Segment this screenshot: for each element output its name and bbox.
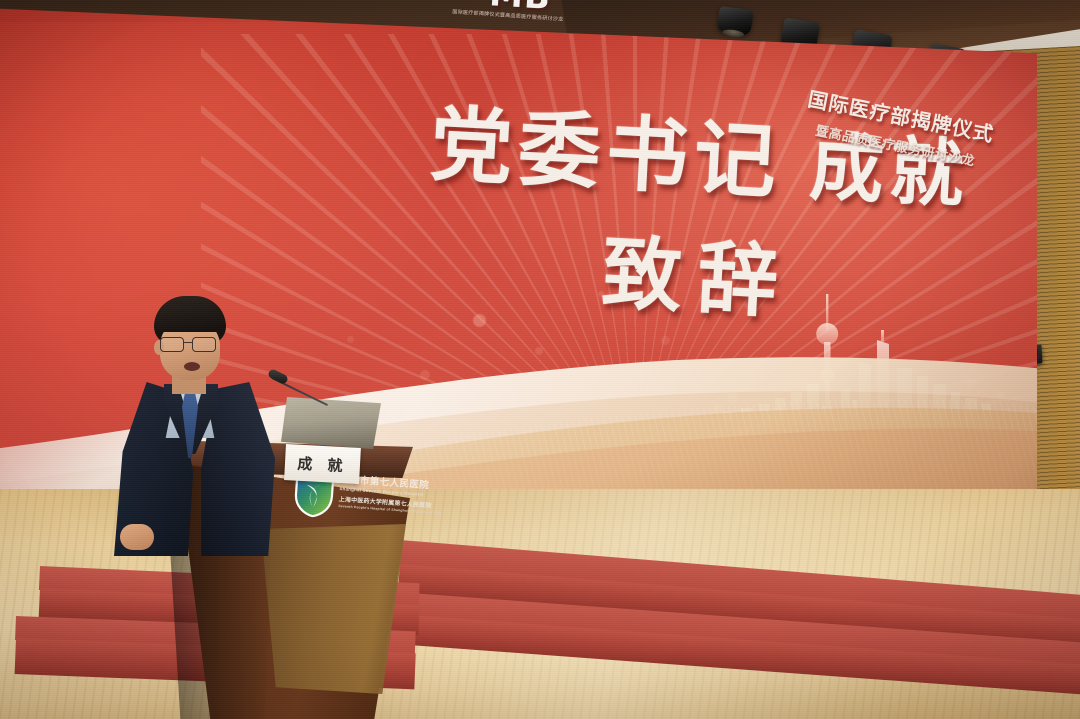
eyeglass-lens-left [160,337,184,352]
eyeglass-bridge [184,342,192,343]
eyeglass-lens-right [192,337,216,352]
stage-lamp-1 [716,6,753,36]
eyeglasses-icon [160,337,222,352]
speaker-person [112,296,302,556]
speaker-name-card-text: 成 就 [297,452,348,476]
conference-stage-photo: MB 国际医疗部揭牌仪式暨高品质医疗服务研讨沙龙 党委书记成就 致辞 国际医疗部… [0,0,1080,719]
hand [120,524,154,550]
hair-front [156,306,224,332]
mouth [184,362,200,371]
